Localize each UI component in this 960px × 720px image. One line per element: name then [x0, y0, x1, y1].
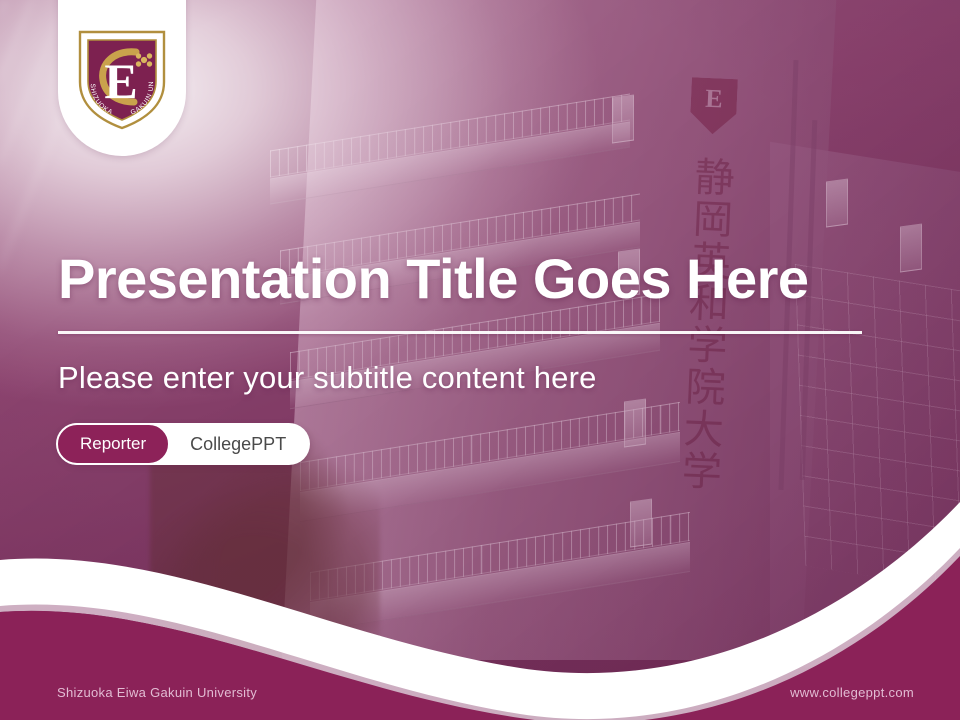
svg-text:E: E: [104, 53, 137, 109]
title-divider-rule: [58, 331, 862, 334]
reporter-name[interactable]: CollegePPT: [170, 434, 310, 455]
footer-university-name: Shizuoka Eiwa Gakuin University: [57, 685, 257, 700]
headline-block: Presentation Title Goes Here Please ente…: [58, 250, 868, 396]
footer-website[interactable]: www.collegeppt.com: [790, 685, 914, 700]
reporter-role-label: Reporter: [56, 423, 170, 465]
university-crest-icon: E SHIZUOKA EIWA GAKUIN UNIVERSITY: [74, 24, 170, 132]
bottom-wave-decoration: [0, 460, 960, 720]
logo-tab: E SHIZUOKA EIWA GAKUIN UNIVERSITY: [58, 0, 186, 156]
reporter-badge[interactable]: Reporter CollegePPT: [57, 423, 310, 465]
presentation-slide: 静岡英和学院大学 E SHIZUOKA EIWA: [0, 0, 960, 720]
presentation-subtitle[interactable]: Please enter your subtitle content here: [58, 360, 868, 396]
presentation-title[interactable]: Presentation Title Goes Here: [58, 250, 868, 309]
